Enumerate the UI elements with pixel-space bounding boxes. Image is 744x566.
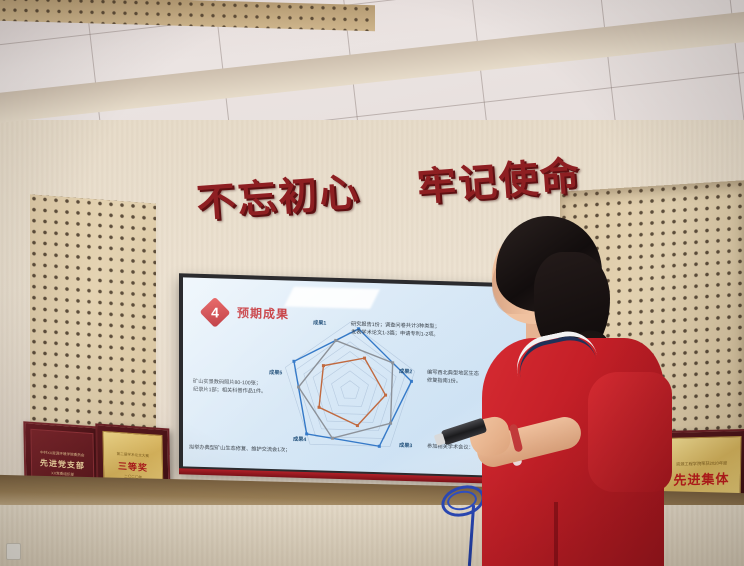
- radar-ring-2: [332, 370, 369, 406]
- radar-marker-1-4: [297, 385, 300, 388]
- radar-marker-2-3: [318, 406, 321, 409]
- plaque-right-header: 资源工程学院荣获2020年度: [676, 460, 727, 467]
- radar-gridlines: [285, 320, 414, 447]
- radar-polygon-series-blue: [294, 327, 411, 447]
- presenter-shirt-placket: [554, 502, 558, 566]
- presentation-room-photo: 不忘初心 牢记使命 中共XX资源环境学院委员会 先进党支部 XX党委组织部 第二…: [0, 0, 744, 566]
- slide-item-5: 成果5 矿山实景数码照片80-100张； 纪录片1部；相关科普作品1件。: [193, 378, 266, 396]
- radar-marker-1-3: [331, 437, 334, 440]
- slide-item-2-key: 成果2: [399, 368, 412, 376]
- radar-marker-2-2: [356, 424, 359, 427]
- slide-item-3-key: 成果3: [399, 442, 412, 450]
- radar-marker-2-1: [384, 394, 387, 397]
- radar-marker-0-4: [292, 360, 295, 363]
- slogan-spacer: [377, 202, 403, 204]
- slide-item-1-key: 成果1: [313, 319, 326, 327]
- radar-ring-7: [285, 320, 414, 447]
- radar-marker-2-0: [363, 357, 366, 360]
- radar-ring-3: [322, 360, 377, 414]
- presenter-sleeve: [588, 372, 672, 492]
- radar-marker-0-3: [305, 432, 308, 435]
- radar-marker-0-1: [410, 380, 413, 383]
- slide-item-4: 成果4 拟举办典型矿山生态修复、维护交流会1次；: [189, 444, 290, 455]
- plaque-gold-header: 第二届学术论文大赛: [117, 451, 149, 458]
- radar-marker-2-4: [322, 364, 325, 367]
- slide-item-5-key: 成果5: [269, 369, 282, 377]
- screen-light-reflection: [284, 287, 380, 309]
- wall-slogan-part1: 不忘初心: [195, 169, 362, 227]
- slide-section-badge: 4: [199, 297, 230, 328]
- slide-item-4-line1: 拟举办典型矿山生态修复、维护交流会1次；: [189, 444, 290, 455]
- plaque-red-title: 先进党支部: [40, 457, 85, 471]
- slide-item-4-key: 成果4: [293, 436, 306, 444]
- radar-marker-1-2: [389, 422, 392, 425]
- wall-outlet: [6, 543, 21, 560]
- slide-section-number: 4: [204, 301, 226, 324]
- radar-polygon-series-brown: [319, 357, 386, 427]
- presenter: [470, 212, 670, 566]
- radar-marker-1-0: [334, 339, 337, 342]
- radar-marker-0-2: [378, 445, 381, 448]
- radar-ring-1: [341, 380, 359, 398]
- slide-item-1: 成果1 研究报告1份；调查问卷共计3种类型； 发表学术论文1-3篇；申请专利1-…: [351, 320, 440, 339]
- plaque-right-title: 先进集体: [673, 468, 729, 488]
- radar-ring-5: [304, 340, 396, 431]
- radar-marker-1-1: [391, 361, 394, 364]
- plaque-gold-title: 三等奖: [118, 458, 148, 473]
- slide-item-5-line2: 纪录片1部；相关科普作品1件。: [193, 386, 266, 396]
